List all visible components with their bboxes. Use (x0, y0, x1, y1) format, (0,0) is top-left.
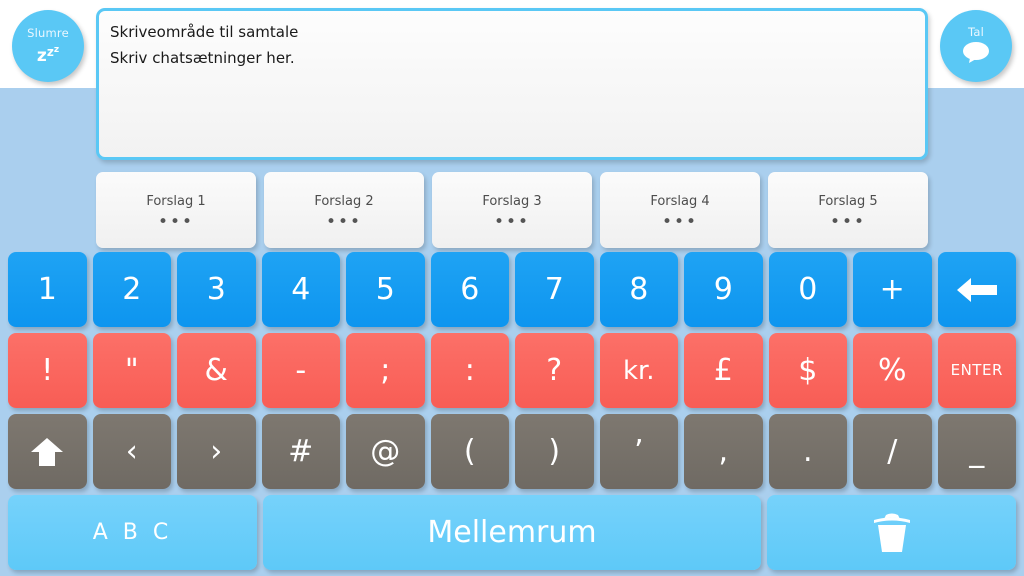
suggestion-dots-icon: ••• (158, 218, 194, 226)
key-krone-label: kr. (623, 358, 655, 384)
key-hash[interactable]: # (262, 414, 341, 489)
key-enter[interactable]: ENTER (938, 333, 1017, 408)
key-period-label: . (803, 437, 813, 467)
key-1-label: 1 (38, 275, 57, 305)
key-plus[interactable]: + (853, 252, 932, 327)
key-paren-open-label: ( (464, 437, 476, 467)
page-background-right (928, 88, 1024, 176)
suggestion-dots-icon: ••• (326, 218, 362, 226)
key-percent[interactable]: % (853, 333, 932, 408)
key-shift[interactable] (8, 414, 87, 489)
suggestion-dots-icon: ••• (494, 218, 530, 226)
key-9-label: 9 (714, 275, 733, 305)
suggestion-label: Forslag 3 (482, 194, 541, 209)
shift-up-arrow-icon (30, 435, 64, 469)
backspace-arrow-icon (955, 275, 999, 305)
key-paren-close-label: ) (548, 437, 560, 467)
key-8-label: 8 (629, 275, 648, 305)
key-right-angle[interactable]: › (177, 414, 256, 489)
key-left-angle[interactable]: ‹ (93, 414, 172, 489)
key-5-label: 5 (376, 275, 395, 305)
key-exclamation[interactable]: ! (8, 333, 87, 408)
key-4-label: 4 (291, 275, 310, 305)
suggestion-button-1[interactable]: Forslag 1••• (96, 172, 256, 248)
key-comma-label: , (718, 437, 728, 467)
key-space[interactable]: Mellemrum (263, 495, 761, 570)
key-7-label: 7 (545, 275, 564, 305)
key-slash-label: / (887, 437, 897, 467)
key-question-label: ? (546, 356, 562, 386)
key-krone[interactable]: kr. (600, 333, 679, 408)
key-ampersand[interactable]: & (177, 333, 256, 408)
key-9[interactable]: 9 (684, 252, 763, 327)
key-exclamation-label: ! (41, 356, 53, 386)
key-5[interactable]: 5 (346, 252, 425, 327)
key-at-label: @ (370, 437, 400, 467)
key-hash-label: # (288, 437, 313, 467)
keyboard-app-window: Slumre zzz Tal Skriveområde til samtale … (0, 0, 1024, 576)
key-underscore-label: _ (969, 437, 984, 467)
zzz-sleep-icon: zzz (37, 42, 59, 65)
on-screen-keyboard: 1234567890+ !"&-;:?kr.£$%ENTER ‹›#@()’,.… (0, 252, 1024, 576)
key-pound-label: £ (714, 356, 733, 386)
key-dollar-label: $ (798, 356, 817, 386)
key-7[interactable]: 7 (515, 252, 594, 327)
key-apostrophe-label: ’ (634, 437, 644, 467)
key-abc-label: A B C (93, 522, 173, 544)
keyboard-row-numbers: 1234567890+ (8, 252, 1016, 327)
write-area-line-2: Skriv chatsætninger her. (110, 45, 914, 71)
key-0-label: 0 (798, 275, 817, 305)
tal-button-label: Tal (968, 26, 984, 38)
key-0[interactable]: 0 (769, 252, 848, 327)
tal-button[interactable]: Tal (940, 10, 1012, 82)
speech-bubble-icon (961, 41, 991, 67)
suggestion-dots-icon: ••• (830, 218, 866, 226)
key-at[interactable]: @ (346, 414, 425, 489)
key-ampersand-label: & (205, 356, 228, 386)
suggestion-dots-icon: ••• (662, 218, 698, 226)
key-paren-open[interactable]: ( (431, 414, 510, 489)
key-pound[interactable]: £ (684, 333, 763, 408)
key-apostrophe[interactable]: ’ (600, 414, 679, 489)
key-delete-trash[interactable] (767, 495, 1016, 570)
key-semicolon-label: ; (380, 356, 390, 386)
suggestion-label: Forslag 5 (818, 194, 877, 209)
slumre-button[interactable]: Slumre zzz (12, 10, 84, 82)
key-paren-close[interactable]: ) (515, 414, 594, 489)
suggestion-label: Forslag 2 (314, 194, 373, 209)
trash-can-icon (870, 512, 914, 554)
page-background-left (0, 88, 96, 176)
keyboard-row-punctuation: ‹›#@()’,./_ (8, 414, 1016, 489)
suggestion-button-4[interactable]: Forslag 4••• (600, 172, 760, 248)
key-1[interactable]: 1 (8, 252, 87, 327)
key-3-label: 3 (207, 275, 226, 305)
key-quote-label: " (125, 356, 139, 386)
keyboard-row-symbols: !"&-;:?kr.£$%ENTER (8, 333, 1016, 408)
key-4[interactable]: 4 (262, 252, 341, 327)
suggestion-label: Forslag 1 (146, 194, 205, 209)
key-3[interactable]: 3 (177, 252, 256, 327)
suggestion-button-3[interactable]: Forslag 3••• (432, 172, 592, 248)
key-colon-label: : (465, 356, 475, 386)
key-enter-label: ENTER (951, 363, 1003, 378)
suggestion-bar: Forslag 1•••Forslag 2•••Forslag 3•••Fors… (96, 172, 928, 248)
key-plus-label: + (880, 275, 905, 305)
key-2[interactable]: 2 (93, 252, 172, 327)
key-colon[interactable]: : (431, 333, 510, 408)
key-dollar[interactable]: $ (769, 333, 848, 408)
key-slash[interactable]: / (853, 414, 932, 489)
text-write-area[interactable]: Skriveområde til samtale Skriv chatsætni… (96, 8, 928, 160)
key-comma[interactable]: , (684, 414, 763, 489)
write-area-line-1: Skriveområde til samtale (110, 19, 914, 45)
key-6-label: 6 (460, 275, 479, 305)
key-underscore[interactable]: _ (938, 414, 1017, 489)
key-percent-label: % (878, 356, 907, 386)
slumre-button-label: Slumre (27, 27, 69, 39)
suggestion-button-2[interactable]: Forslag 2••• (264, 172, 424, 248)
key-semicolon[interactable]: ; (346, 333, 425, 408)
key-quote[interactable]: " (93, 333, 172, 408)
suggestion-button-5[interactable]: Forslag 5••• (768, 172, 928, 248)
key-6[interactable]: 6 (431, 252, 510, 327)
key-abc[interactable]: A B C (8, 495, 257, 570)
key-question[interactable]: ? (515, 333, 594, 408)
key-hyphen-label: - (295, 356, 306, 386)
key-left-angle-label: ‹ (126, 437, 138, 467)
suggestion-label: Forslag 4 (650, 194, 709, 209)
key-8[interactable]: 8 (600, 252, 679, 327)
key-hyphen[interactable]: - (262, 333, 341, 408)
key-2-label: 2 (122, 275, 141, 305)
key-space-label: Mellemrum (427, 518, 596, 548)
key-backspace[interactable] (938, 252, 1017, 327)
key-right-angle-label: › (210, 437, 222, 467)
key-period[interactable]: . (769, 414, 848, 489)
keyboard-row-bottom: A B CMellemrum (8, 495, 1016, 570)
